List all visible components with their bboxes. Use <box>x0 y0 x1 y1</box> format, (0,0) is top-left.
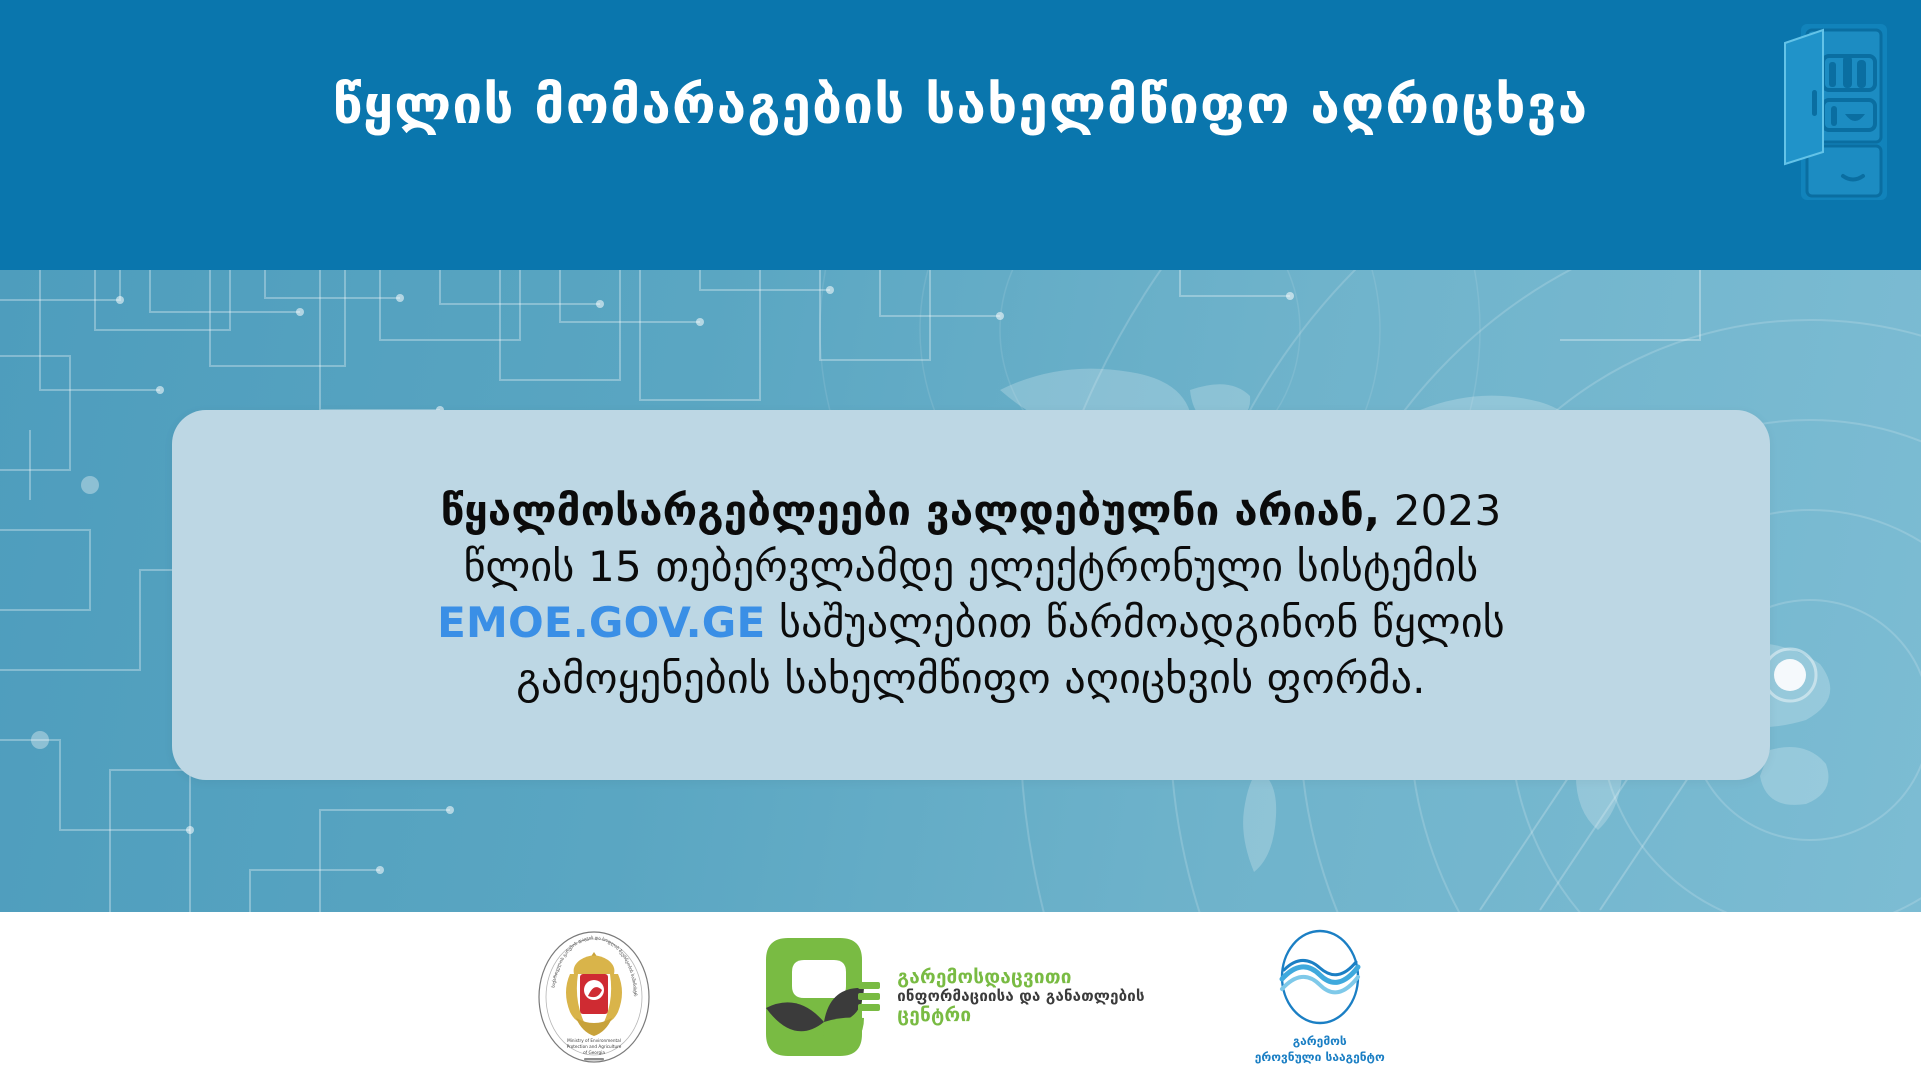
nea-wave-icon <box>1268 927 1372 1031</box>
logo-ministry-of-environmental-protection: Ministry of Environmental Protection and… <box>536 930 652 1064</box>
eiec-logo-text: გარემოსდაცვითი ინფორმაციისა და განათლები… <box>897 967 1144 1026</box>
eiec-text-line-3: ცენტრი <box>897 1005 1144 1026</box>
info-line-4: გამოყენების სახელმწიფო აღიცხვის ფორმა. <box>516 654 1425 703</box>
header-band: წყლის მომარაგების სახელმწიფო აღრიცხვა <box>0 0 1921 270</box>
page-title: წყლის მომარაგების სახელმწიფო აღრიცხვა <box>0 78 1921 134</box>
logo-environmental-information-education-centre: გარემოსდაცვითი ინფორმაციისა და განათლები… <box>762 930 1144 1064</box>
poster-root: წყლის მომარაგების სახელმწიფო აღრიცხვა <box>0 0 1921 1081</box>
emoe-gov-ge-link[interactable]: EMOE.GOV.GE <box>437 598 765 647</box>
info-card-text: წყალმოსარგებლეები ვალდებულნი არიან, 2023… <box>377 483 1565 706</box>
eiec-mark-icon <box>762 930 887 1064</box>
eiec-text-line-2: ინფორმაციისა და განათლების <box>897 988 1144 1005</box>
info-line-3-rest: საშუალებით წარმოადგინონ წყლის <box>779 598 1505 647</box>
info-card: წყალმოსარგებლეები ვალდებულნი არიან, 2023… <box>172 410 1770 780</box>
nea-logo-text: გარემოს ეროვნული სააგენტო <box>1255 1034 1385 1065</box>
logo-national-environmental-agency: გარემოს ეროვნული სააგენტო <box>1255 927 1385 1065</box>
footer-logo-strip: Ministry of Environmental Protection and… <box>0 912 1921 1081</box>
info-line-1-bold: წყალმოსარგებლეები ვალდებულნი არიან, <box>441 486 1381 535</box>
ministry-caption-en-line2: Protection and Agriculture <box>567 1044 622 1049</box>
eiec-text-line-1: გარემოსდაცვითი <box>897 967 1144 988</box>
ministry-caption-en-line1: Ministry of Environmental <box>567 1038 621 1043</box>
info-line-1-year: 2023 <box>1394 486 1502 535</box>
nea-text-line-1: გარემოს <box>1255 1034 1385 1050</box>
ministry-caption-en-line3: of Georgia <box>583 1050 605 1055</box>
nea-text-line-2: ეროვნული სააგენტო <box>1255 1050 1385 1066</box>
info-line-2: წლის 15 თებერვლამდე ელექტრონული სისტემის <box>464 542 1479 591</box>
